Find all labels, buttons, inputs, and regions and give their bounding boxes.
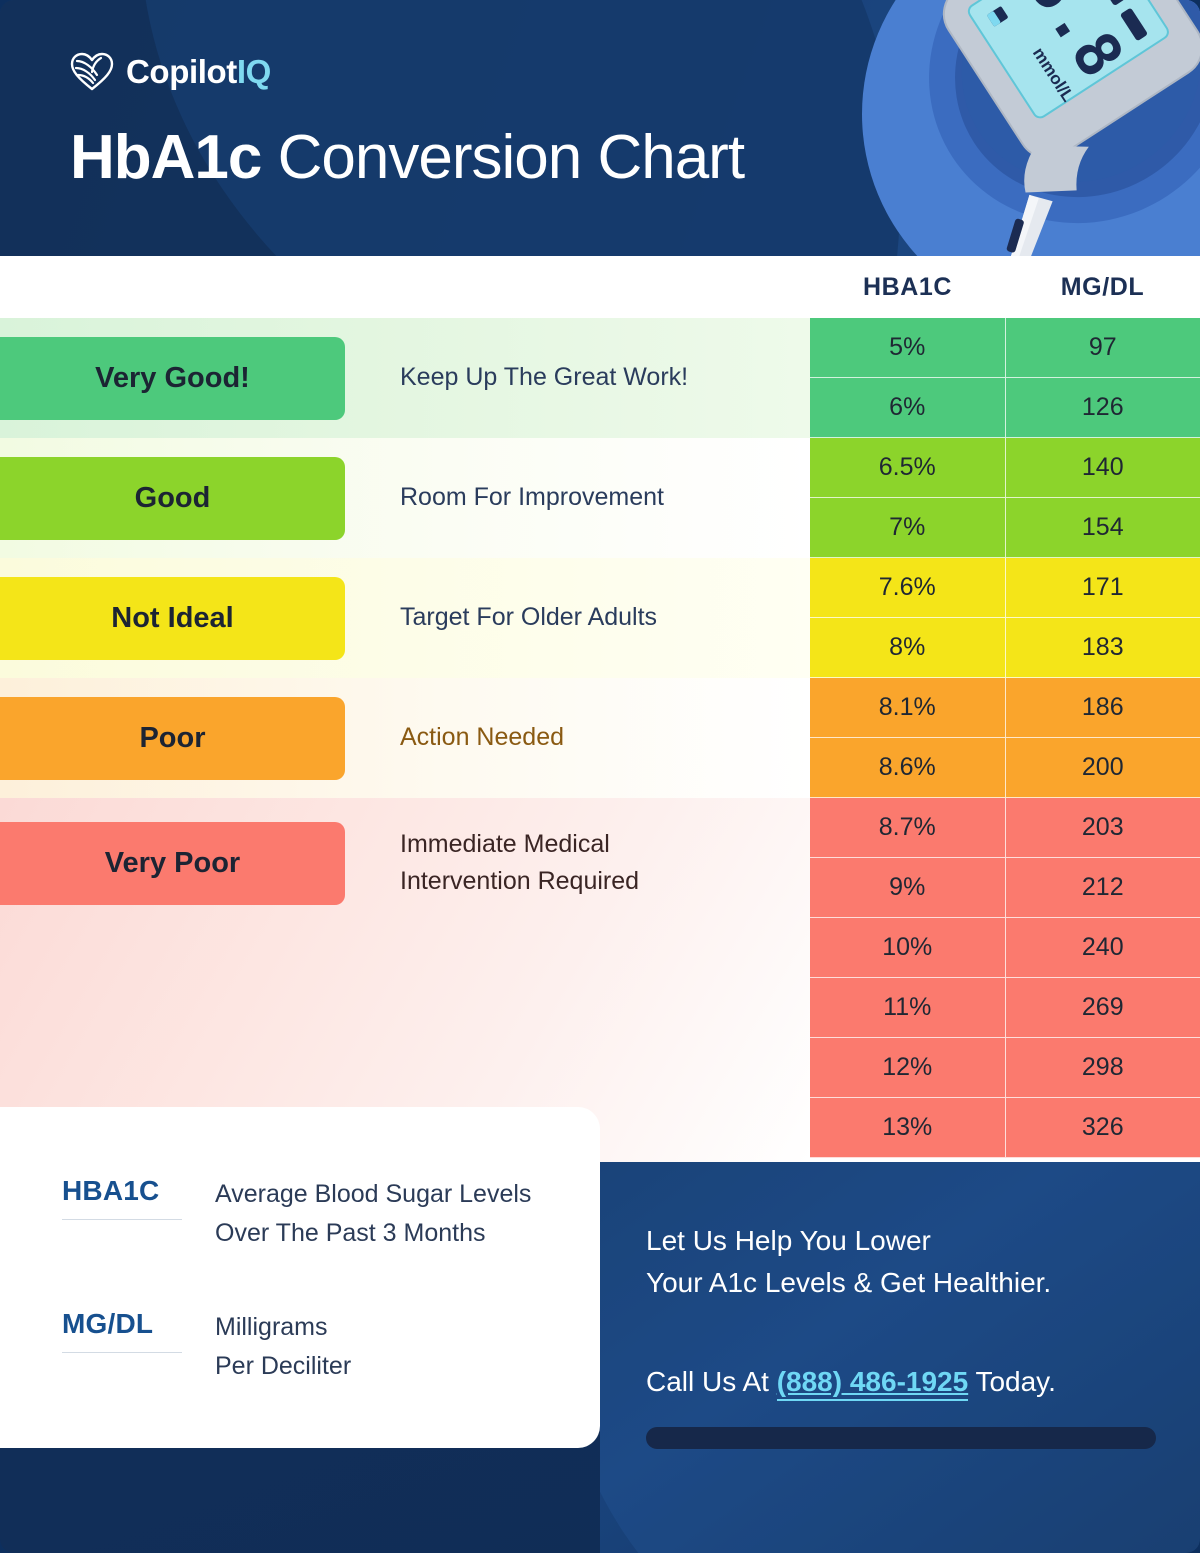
category-description-not-ideal: Target For Older Adults	[400, 599, 657, 637]
legend-term-hba1c: HBA1C	[62, 1175, 182, 1220]
legend-card: HBA1C Average Blood Sugar LevelsOver The…	[0, 1107, 600, 1448]
table-row: 8.1%186	[810, 678, 1200, 738]
table-cell-hba1c: 12%	[810, 1038, 1006, 1098]
category-row-very-poor: Very Poor Immediate MedicalIntervention …	[0, 798, 810, 928]
cta-headline: Let Us Help You LowerYour A1c Levels & G…	[646, 1220, 1166, 1304]
table-cell-mgdl: 171	[1006, 558, 1200, 618]
category-pill-good: Good	[0, 457, 345, 540]
header-banner: 5.8 mmol/L	[0, 0, 1200, 256]
table-row: 8.6%200	[810, 738, 1200, 798]
brand-logo: CopilotIQ	[70, 52, 271, 92]
table-cell-mgdl: 269	[1006, 978, 1200, 1038]
table-cell-mgdl: 186	[1006, 678, 1200, 738]
column-header-mgdl: MG/DL	[1005, 256, 1200, 318]
table-cell-mgdl: 240	[1006, 918, 1200, 978]
table-cell-hba1c: 5%	[810, 318, 1006, 378]
table-row: 6%126	[810, 378, 1200, 438]
table-cell-hba1c: 7.6%	[810, 558, 1006, 618]
legend-item-mgdl: MG/DL MilligramsPer Deciliter	[62, 1308, 351, 1386]
legend-definition-mgdl: MilligramsPer Deciliter	[215, 1308, 351, 1386]
legend-definition-hba1c: Average Blood Sugar LevelsOver The Past …	[215, 1175, 531, 1253]
cta-call-prefix: Call Us At	[646, 1366, 777, 1397]
table-row: 8.7%203	[810, 798, 1200, 858]
table-header-row: HBA1C MG/DL	[810, 256, 1200, 318]
table-cell-mgdl: 126	[1006, 378, 1200, 438]
table-cell-mgdl: 326	[1006, 1098, 1200, 1158]
table-cell-hba1c: 8.7%	[810, 798, 1006, 858]
category-description-very-poor: Immediate MedicalIntervention Required	[400, 826, 639, 901]
table-row: 8%183	[810, 618, 1200, 678]
category-row-very-good: Very Good! Keep Up The Great Work!	[0, 318, 810, 438]
cta-call-suffix: Today.	[968, 1366, 1056, 1397]
category-row-poor: Poor Action Needed	[0, 678, 810, 798]
table-cell-hba1c: 13%	[810, 1098, 1006, 1158]
table-cell-mgdl: 298	[1006, 1038, 1200, 1098]
page-title-rest: Conversion Chart	[261, 123, 744, 192]
table-row: 6.5%140	[810, 438, 1200, 498]
table-row: 11%269	[810, 978, 1200, 1038]
table-cell-mgdl: 212	[1006, 858, 1200, 918]
brand-name: CopilotIQ	[126, 53, 271, 91]
category-pill-not-ideal: Not Ideal	[0, 577, 345, 660]
table-cell-mgdl: 154	[1006, 498, 1200, 558]
table-row: 13%326	[810, 1098, 1200, 1158]
table-cell-mgdl: 97	[1006, 318, 1200, 378]
category-row-not-ideal: Not Ideal Target For Older Adults	[0, 558, 810, 678]
category-description-poor: Action Needed	[400, 719, 564, 757]
legend-item-hba1c: HBA1C Average Blood Sugar LevelsOver The…	[62, 1175, 531, 1253]
table-cell-mgdl: 140	[1006, 438, 1200, 498]
category-description-good: Room For Improvement	[400, 479, 664, 517]
table-row: 12%298	[810, 1038, 1200, 1098]
chart-body: HBA1C MG/DL Very Good! Keep Up The Great…	[0, 256, 1200, 1162]
table-row: 10%240	[810, 918, 1200, 978]
brand-name-accent: IQ	[237, 53, 271, 90]
page-title-bold: HbA1c	[70, 123, 261, 192]
page-title: HbA1c Conversion Chart	[70, 122, 744, 193]
category-row-good: Good Room For Improvement	[0, 438, 810, 558]
glucose-meter-icon: 5.8 mmol/L	[862, 0, 1200, 256]
cta-divider-bar	[646, 1427, 1156, 1449]
category-pill-very-good: Very Good!	[0, 337, 345, 420]
table-cell-mgdl: 183	[1006, 618, 1200, 678]
table-cell-hba1c: 6%	[810, 378, 1006, 438]
conversion-table: 5%976%1266.5%1407%1547.6%1718%1838.1%186…	[810, 318, 1200, 1158]
legend-term-mgdl: MG/DL	[62, 1308, 182, 1353]
heart-logo-icon	[70, 52, 114, 92]
table-cell-hba1c: 6.5%	[810, 438, 1006, 498]
table-row: 7.6%171	[810, 558, 1200, 618]
table-cell-hba1c: 9%	[810, 858, 1006, 918]
table-cell-mgdl: 200	[1006, 738, 1200, 798]
cta-call-line: Call Us At (888) 486-1925 Today.	[646, 1366, 1166, 1398]
table-cell-hba1c: 11%	[810, 978, 1006, 1038]
table-cell-hba1c: 10%	[810, 918, 1006, 978]
cta-panel: Let Us Help You LowerYour A1c Levels & G…	[600, 1162, 1200, 1553]
table-row: 9%212	[810, 858, 1200, 918]
table-cell-hba1c: 7%	[810, 498, 1006, 558]
phone-number-link[interactable]: (888) 486-1925	[777, 1366, 968, 1401]
category-description-very-good: Keep Up The Great Work!	[400, 359, 688, 397]
column-header-hba1c: HBA1C	[810, 256, 1005, 318]
table-row: 7%154	[810, 498, 1200, 558]
table-row: 5%97	[810, 318, 1200, 378]
table-cell-hba1c: 8.6%	[810, 738, 1006, 798]
table-cell-hba1c: 8%	[810, 618, 1006, 678]
table-cell-hba1c: 8.1%	[810, 678, 1006, 738]
infographic-poster: 5.8 mmol/L	[0, 0, 1200, 1553]
category-pill-poor: Poor	[0, 697, 345, 780]
category-pill-very-poor: Very Poor	[0, 822, 345, 905]
brand-name-primary: Copilot	[126, 53, 237, 90]
table-cell-mgdl: 203	[1006, 798, 1200, 858]
